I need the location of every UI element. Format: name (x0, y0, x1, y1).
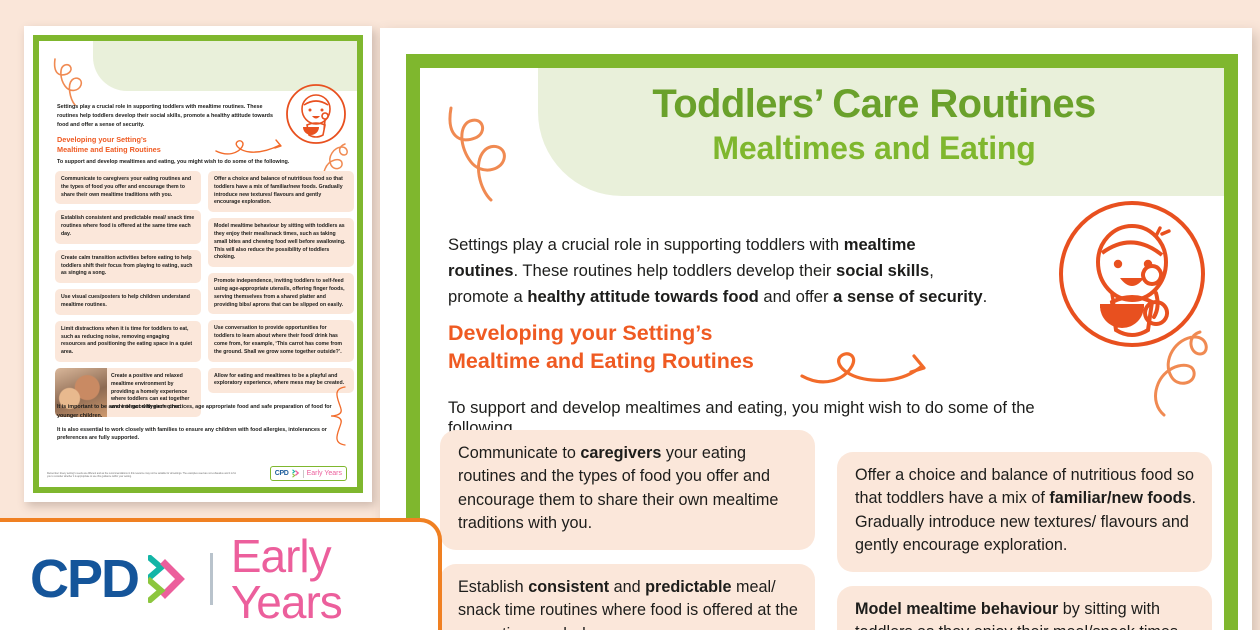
routine-card: Create calm transition activities before… (55, 250, 201, 283)
thumbnail-heading-line1: Developing your Setting’s (57, 135, 217, 145)
thumbnail-heading-line2: Mealtime and Eating Routines (57, 145, 217, 155)
section-heading-line2: Mealtime and Eating Routines (448, 348, 808, 376)
logo-cpd-text: CPD (30, 552, 138, 606)
curl-decoration-icon (51, 55, 93, 107)
thumbnail-logo-early-years-text: Early Years (307, 470, 342, 477)
routine-card: Communicate to caregivers your eating ro… (440, 430, 815, 550)
thumbnail-lead-text: To support and develop mealtimes and eat… (57, 159, 317, 165)
document-main-panel[interactable]: Toddlers’ Care Routines Mealtimes and Ea… (380, 28, 1252, 630)
brand-logo: CPD Early Years (0, 533, 438, 625)
thumbnail-card-columns: Communicate to caregivers your eating ro… (55, 171, 355, 417)
logo-early-years-text: Early Years (231, 533, 438, 625)
right-column: Offer a choice and balance of nutritious… (837, 430, 1212, 630)
brand-logo-panel[interactable]: CPD Early Years (0, 518, 442, 630)
routine-card: Offer a choice and balance of nutritious… (837, 452, 1212, 572)
thumbnail-page: Settings play a crucial role in supporti… (39, 41, 357, 487)
thumbnail-section-heading: Developing your Setting’s Mealtime and E… (57, 135, 217, 155)
routine-card: Establish consistent and predictable mea… (55, 210, 201, 243)
routine-card: Promote independence, inviting toddlers … (208, 273, 354, 314)
thumbnail-intro-text: Settings play a crucial role in supporti… (57, 103, 273, 129)
card-columns: Communicate to caregivers your eating ro… (440, 430, 1212, 630)
chevron-mark-icon (148, 555, 192, 603)
routine-card: Model mealtime behaviour by sitting with… (208, 218, 354, 267)
routine-card: Model mealtime behaviour by sitting with… (837, 586, 1212, 630)
routine-card: Limit distractions when it is time for t… (55, 321, 201, 362)
routine-card: Offer a choice and balance of nutritious… (208, 171, 354, 212)
curved-arrow-icon (214, 137, 292, 159)
curved-arrow-icon (798, 350, 938, 394)
routine-card: Communicate to caregivers your eating ro… (55, 171, 201, 204)
logo-divider (210, 553, 213, 605)
toddler-illustration-icon (1056, 198, 1208, 350)
thumbnail-logo-divider (303, 470, 304, 478)
section-heading-line1: Developing your Setting’s (448, 320, 808, 348)
page-subtitle: Mealtimes and Eating (550, 130, 1198, 167)
intro-paragraph: Settings play a crucial role in supporti… (448, 232, 988, 311)
main-page-border: Toddlers’ Care Routines Mealtimes and Ea… (406, 54, 1238, 630)
document-thumbnail[interactable]: Settings play a crucial role in supporti… (24, 26, 372, 502)
left-column: Communicate to caregivers your eating ro… (440, 430, 815, 630)
main-page: Toddlers’ Care Routines Mealtimes and Ea… (420, 68, 1224, 630)
page-title: Toddlers’ Care Routines (550, 82, 1198, 127)
thumbnail-chevron-mark-icon (292, 469, 300, 478)
thumbnail-disclaimer: Remember: Every setting’s needs are diff… (47, 472, 237, 479)
thumbnail-logo-cpd-text: CPD (275, 470, 289, 477)
thumbnail-page-border: Settings play a crucial role in supporti… (33, 35, 363, 493)
toddler-illustration-icon (285, 83, 347, 145)
screenshot-canvas: Settings play a crucial role in supporti… (0, 0, 1260, 630)
thumbnail-footer-notes: It is important to be aware of good hygi… (57, 403, 343, 443)
section-heading: Developing your Setting’s Mealtime and E… (448, 320, 808, 375)
brace-decoration-icon (319, 385, 349, 447)
thumbnail-brand-logo: CPD Early Years (270, 466, 347, 481)
thumbnail-left-column: Communicate to caregivers your eating ro… (55, 171, 201, 417)
thumbnail-footer-note-1: It is important to be aware of good hygi… (57, 403, 343, 420)
curl-decoration-icon (444, 102, 524, 202)
routine-card: Establish consistent and predictable mea… (440, 564, 815, 630)
thumbnail-right-column: Offer a choice and balance of nutritious… (208, 171, 354, 417)
routine-card: Use visual cues/posters to help children… (55, 289, 201, 315)
routine-card: Use conversation to provide opportunitie… (208, 320, 354, 361)
thumbnail-footer-note-2: It is also essential to work closely wit… (57, 426, 343, 443)
